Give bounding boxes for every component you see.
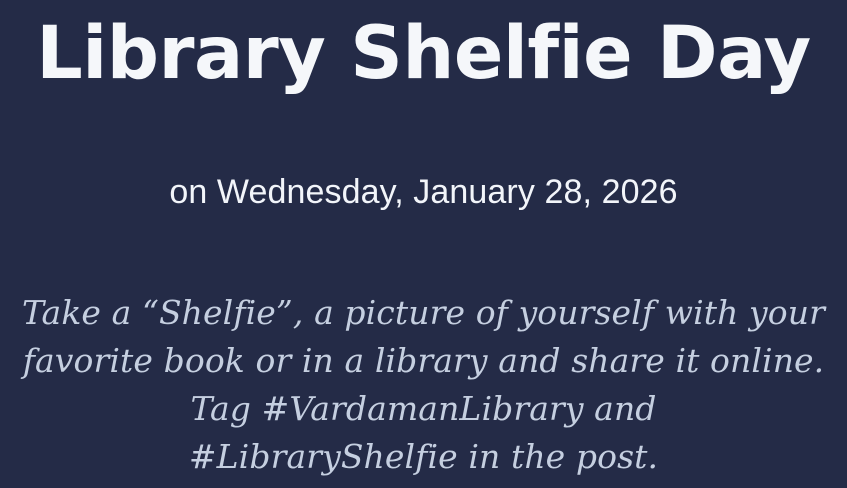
poster-headline: Library Shelfie Day [0, 6, 847, 102]
poster-body-copy: Take a “Shelfie”, a picture of yourself … [0, 289, 847, 481]
body-copy-line: #LibraryShelfie in the post. [0, 433, 847, 481]
body-copy-line: Tag #VardamanLibrary and [0, 385, 847, 433]
library-shelfie-day-poster: Library Shelfie Day on Wednesday, Januar… [0, 0, 847, 488]
poster-dateline: on Wednesday, January 28, 2026 [0, 170, 847, 214]
body-copy-line: Take a “Shelfie”, a picture of yourself … [0, 289, 847, 337]
body-copy-line: favorite book or in a library and share … [0, 337, 847, 385]
